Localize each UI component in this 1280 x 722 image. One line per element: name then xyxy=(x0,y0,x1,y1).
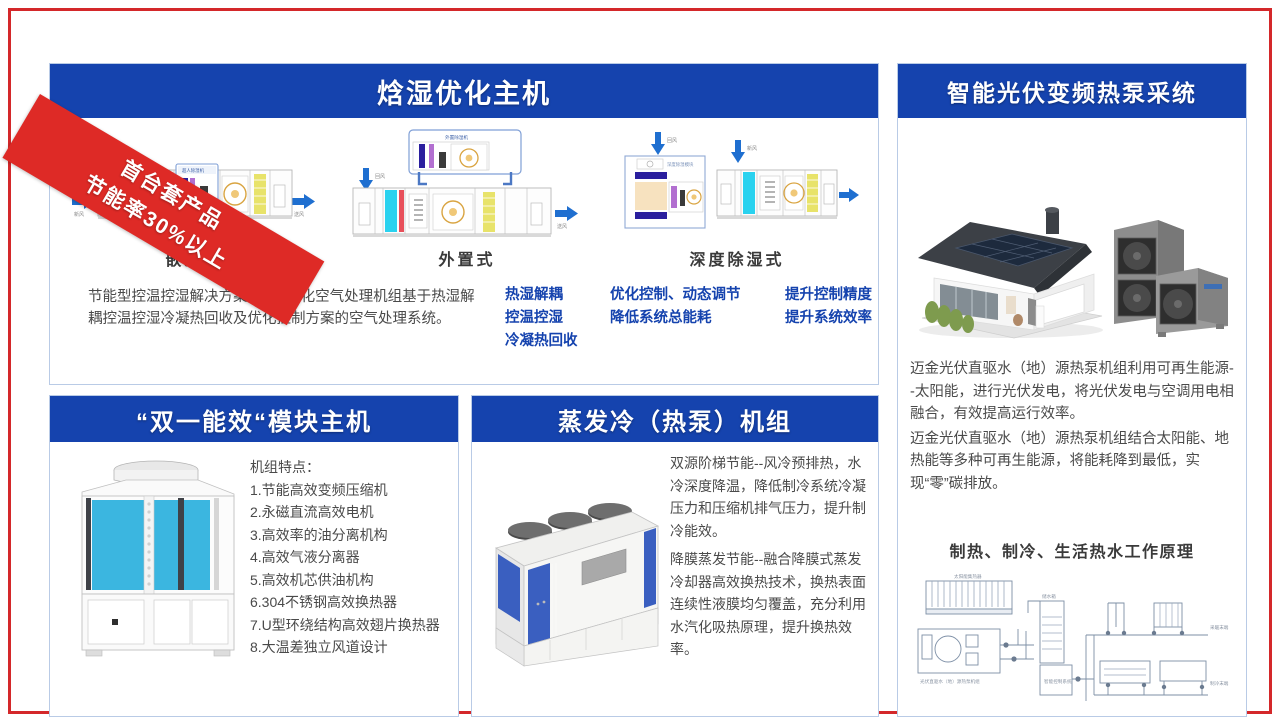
evap-paragraph-2: 降膜蒸发节能--融合降膜式蒸发冷却器高效换热技术，换热表面连续性液膜均匀覆盖，充… xyxy=(670,548,866,661)
schema-label-controller: 智能控制系统 xyxy=(1044,678,1072,685)
schema-label-tank: 储水箱 xyxy=(1042,593,1056,600)
list-item: 1.节能高效变频压缩机 xyxy=(250,479,450,502)
pv-paragraph-1: 迈金光伏直驱水（地）源热泵机组利用可再生能源--太阳能，进行光伏发电，将光伏发电… xyxy=(910,358,1236,426)
schema-label-cooling: 制冷末端 xyxy=(1210,680,1229,687)
svg-text:送风: 送风 xyxy=(557,223,567,230)
list-item: 4.高效气液分离器 xyxy=(250,546,450,569)
panel-enthalpy-humidity-main: 焓湿优化主机 回风 xyxy=(49,63,879,385)
feature-column-3: 提升控制精度 提升系统效率 xyxy=(785,284,915,330)
svg-text:送风: 送风 xyxy=(294,211,304,218)
feature-item: 热湿解耦 xyxy=(505,284,605,307)
schema-label-collector: 太阳能集热器 xyxy=(954,573,982,580)
svg-text:回风: 回风 xyxy=(375,174,385,180)
list-item: 5.高效机芯供油机构 xyxy=(250,569,450,592)
panel-evap-body: 双源阶梯节能--风冷预排热，水冷深度降温，降低制冷系统冷凝压力和压缩机排气压力，… xyxy=(472,442,878,716)
feature-item: 提升系统效率 xyxy=(785,307,915,330)
pv-description: 迈金光伏直驱水（地）源热泵机组利用可再生能源--太阳能，进行光伏发电，将光伏发电… xyxy=(910,358,1236,495)
feature-column-1: 热湿解耦 控温控湿 冷凝热回收 xyxy=(505,284,605,353)
svg-text:新风: 新风 xyxy=(747,145,757,152)
schema-label-heating: 采暖末端 xyxy=(1210,624,1229,631)
diagram-external-module-label: 外置除湿机 xyxy=(445,134,468,141)
diagram-external: 外置除湿机 xyxy=(342,126,592,246)
list-item: 7.U型环绕结构高效翅片换热器 xyxy=(250,614,450,637)
panel-evaporative-heatpump: 蒸发冷（热泵）机组 xyxy=(471,395,879,717)
svg-text:回风: 回风 xyxy=(667,138,677,144)
panel-pv-heatpump-system: 智能光伏变频热泵采统 xyxy=(897,63,1247,717)
modular-chiller-image xyxy=(68,454,243,664)
svg-text:新风: 新风 xyxy=(74,211,84,218)
feature-item: 降低系统总能耗 xyxy=(610,307,790,330)
list-item: 3.高效率的油分离机构 xyxy=(250,524,450,547)
dual-feature-list: 机组特点： 1.节能高效变频压缩机 2.永磁直流高效电机 3.高效率的油分离机构… xyxy=(250,456,450,659)
pv-paragraph-2: 迈金光伏直驱水（地）源热泵机组结合太阳能、地热能等多种可再生能源，将能耗降到最低… xyxy=(910,428,1236,496)
panel-pv-body: 迈金光伏直驱水（地）源热泵机组利用可再生能源--太阳能，进行光伏发电，将光伏发电… xyxy=(898,118,1246,716)
panel-pv-title: 智能光伏变频热泵采统 xyxy=(898,64,1246,118)
main-feature-columns: 热湿解耦 控温控湿 冷凝热回收 优化控制、动态调节 降低系统总能耗 提升控制精度… xyxy=(505,284,875,374)
panel-dual-body: 机组特点： 1.节能高效变频压缩机 2.永磁直流高效电机 3.高效率的油分离机构… xyxy=(50,442,458,716)
diagram-deep-module-label: 深度除湿模块 xyxy=(667,161,694,168)
pv-schema-title: 制热、制冷、生活热水工作原理 xyxy=(898,538,1246,562)
diagram-embedded-module-label: 超人除湿机 xyxy=(182,167,205,174)
feature-item: 优化控制、动态调节 xyxy=(610,284,790,307)
list-item: 8.大温差独立风道设计 xyxy=(250,636,450,659)
panel-dual-title: “双一能效“模块主机 xyxy=(50,396,458,442)
panel-dual-efficiency-module: “双一能效“模块主机 xyxy=(49,395,459,717)
list-item: 2.永磁直流高效电机 xyxy=(250,501,450,524)
feature-item: 提升控制精度 xyxy=(785,284,915,307)
feature-item: 控温控湿 xyxy=(505,307,605,330)
diagram-deep-dehumidify: 回风 深度除湿模块 xyxy=(606,126,868,246)
list-item: 6.304不锈钢高效换热器 xyxy=(250,591,450,614)
evaporative-unit-image xyxy=(486,496,666,671)
panel-main-title: 焓湿优化主机 xyxy=(50,64,878,118)
evap-paragraph-1: 双源阶梯节能--风冷预排热，水冷深度降温，降低制冷系统冷凝压力和压缩机排气压力，… xyxy=(670,452,866,542)
dual-list-title: 机组特点： xyxy=(250,456,450,479)
evap-description: 双源阶梯节能--风冷预排热，水冷深度降温，降低制冷系统冷凝压力和压缩机排气压力，… xyxy=(670,452,866,661)
schema-label-heatpump: 光伏直驱水（地）源热泵机组 xyxy=(920,678,980,685)
caption-deep-dehumidify: 深度除湿式 xyxy=(606,246,868,270)
caption-external: 外置式 xyxy=(342,246,592,270)
pv-system-schematic: 太阳能集热器 光伏直驱水（地）源热泵机组 储水箱 智能控制系统 采暖末端 制冷末… xyxy=(908,573,1238,713)
poster-outer-frame: 焓湿优化主机 回风 xyxy=(8,8,1272,714)
feature-item: 冷凝热回收 xyxy=(505,330,605,353)
panel-evap-title: 蒸发冷（热泵）机组 xyxy=(472,396,878,442)
poster-page: 焓湿优化主机 回风 xyxy=(0,0,1280,722)
feature-column-2: 优化控制、动态调节 降低系统总能耗 xyxy=(610,284,790,330)
solar-house-heatpump-image xyxy=(906,188,1240,348)
